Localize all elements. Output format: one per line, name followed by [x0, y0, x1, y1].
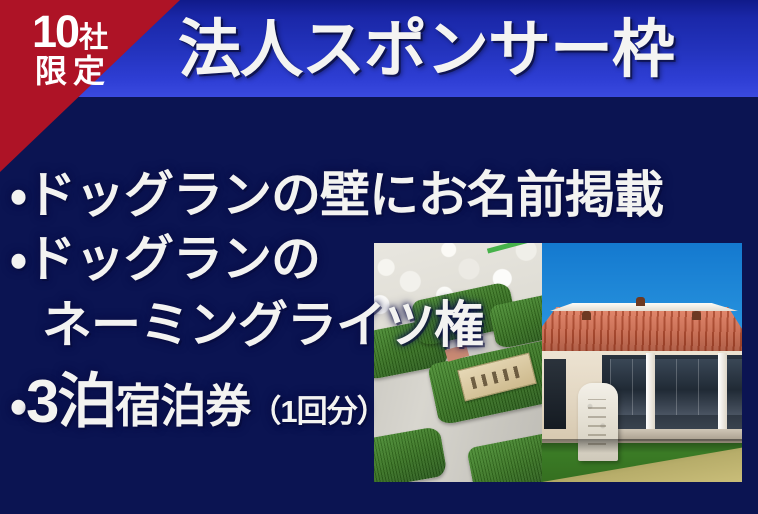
red-tile-roof-shape — [542, 307, 742, 351]
side-door-shape — [544, 359, 566, 429]
photo-dog-run-garden — [374, 243, 542, 482]
benefit-item-stay-voucher: ・3泊宿泊券（1回分） — [10, 372, 387, 432]
veranda-pillar-shape — [646, 353, 655, 437]
veranda-pillar-shape — [718, 353, 727, 437]
turf-patch-shape — [374, 426, 448, 482]
sponsor-poster: 法人スポンサー枠 10社 限定 — [0, 0, 758, 514]
benefit-item-naming-rights-line1: ・ドッグランの — [10, 234, 320, 284]
shisa-ornament-shape — [692, 311, 701, 320]
benefit-stay-bullet: ・ — [10, 377, 26, 433]
photo-strip — [374, 243, 742, 482]
benefit-item-wall-name: ・ドッグランの壁にお名前掲載 — [10, 170, 663, 220]
benefit-wall-name-text: ・ドッグランの壁にお名前掲載 — [10, 167, 663, 223]
benefit-stay-voucher-label: 宿泊券 — [115, 380, 250, 432]
benefit-stay-note: （1回分） — [250, 394, 386, 429]
photo-okinawa-villa — [542, 243, 742, 482]
shisa-ornament-shape — [636, 297, 645, 306]
page-title: 法人スポンサー枠 — [178, 8, 738, 92]
benefit-naming-rights-text-line1: ・ドッグランの — [10, 231, 320, 287]
shisa-ornament-shape — [582, 311, 591, 320]
ground-shadow-shape — [542, 439, 742, 453]
benefit-stay-nights: 3泊 — [26, 368, 115, 435]
